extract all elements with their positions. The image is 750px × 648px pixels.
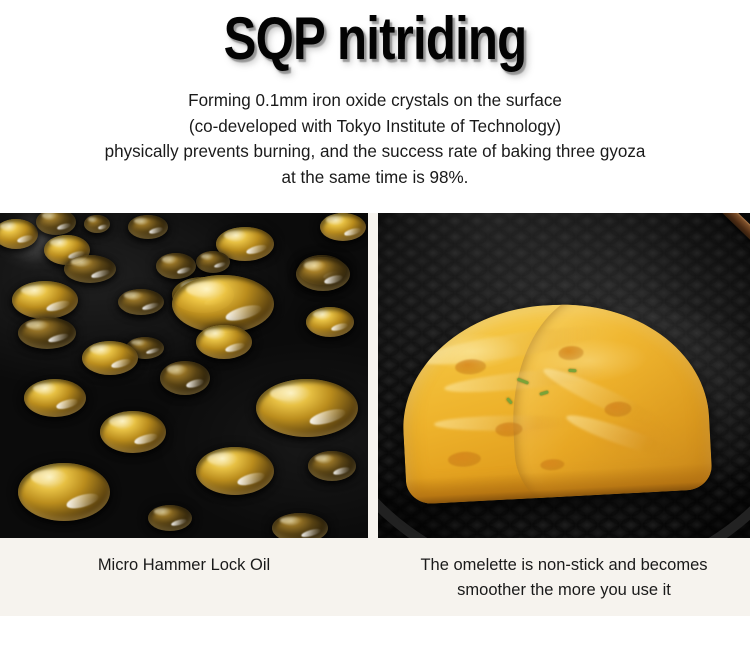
oil-droplet (196, 447, 274, 495)
subtitle-line-1: Forming 0.1mm iron oxide crystals on the… (21, 88, 729, 114)
caption-row: Micro Hammer Lock Oil The omelette is no… (0, 538, 750, 616)
subtitle-line-4: at the same time is 98%. (21, 165, 729, 191)
scallion-fleck (506, 397, 513, 404)
oil-droplet (196, 325, 252, 359)
oil-droplet (118, 289, 164, 315)
subtitle-line-3: physically prevents burning, and the suc… (21, 139, 729, 165)
photo-row (0, 213, 750, 538)
oil-droplet (306, 307, 354, 337)
oil-droplet (18, 463, 110, 521)
oil-droplet (100, 411, 166, 453)
subtitle-line-2: (co-developed with Tokyo Institute of Te… (21, 114, 729, 140)
promo-page: SQP nitriding Forming 0.1mm iron oxide c… (0, 0, 750, 648)
page-title: SQP nitriding (68, 6, 683, 72)
oil-droplet (24, 379, 86, 417)
photo-oil-droplets-on-hammered-pan (0, 213, 368, 538)
oil-droplet (156, 253, 196, 279)
oil-droplet (82, 341, 138, 375)
omelette-browning (447, 451, 481, 468)
caption-line: Micro Hammer Lock Oil (0, 553, 368, 578)
oil-droplet (64, 255, 116, 283)
caption-oil-droplets: Micro Hammer Lock Oil (0, 553, 368, 578)
photo-divider (368, 213, 378, 538)
footer-whitespace (0, 616, 750, 648)
oil-droplet (84, 215, 110, 233)
oil-droplet (128, 215, 168, 239)
oil-droplet (196, 251, 230, 273)
oil-droplet (272, 513, 328, 538)
oil-droplet (308, 451, 356, 481)
oil-droplet (256, 379, 358, 437)
header-section: SQP nitriding Forming 0.1mm iron oxide c… (0, 0, 750, 213)
oil-droplet (18, 317, 76, 349)
photo-omelette-in-wok (378, 213, 750, 538)
oil-droplet (148, 505, 192, 531)
oil-droplet (12, 281, 78, 319)
caption-omelette: The omelette is non-stick and becomes sm… (378, 553, 750, 603)
page-subtitle: Forming 0.1mm iron oxide crystals on the… (21, 88, 729, 190)
oil-droplet (320, 213, 366, 241)
oil-droplet (296, 257, 350, 291)
oil-droplet (160, 361, 210, 395)
omelette-browning (455, 358, 486, 375)
caption-line: smoother the more you use it (378, 578, 750, 603)
caption-line: The omelette is non-stick and becomes (378, 553, 750, 578)
